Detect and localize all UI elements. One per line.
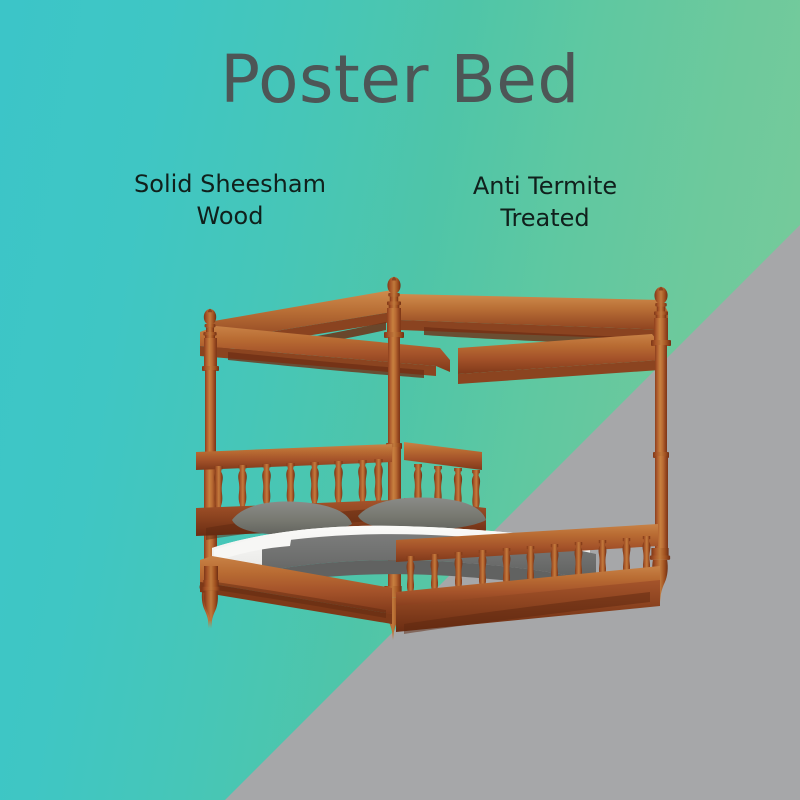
feature-material-line1: Solid Sheesham <box>95 168 365 200</box>
feature-treatment-line2: Treated <box>425 202 665 234</box>
feature-treatment-line1: Anti Termite <box>425 170 665 202</box>
feature-material-line2: Wood <box>95 200 365 232</box>
feature-treatment: Anti Termite Treated <box>425 170 665 235</box>
poster-canvas: Poster Bed Solid Sheesham Wood Anti Term… <box>0 0 800 800</box>
feature-material: Solid Sheesham Wood <box>95 168 365 233</box>
page-title: Poster Bed <box>0 44 800 117</box>
